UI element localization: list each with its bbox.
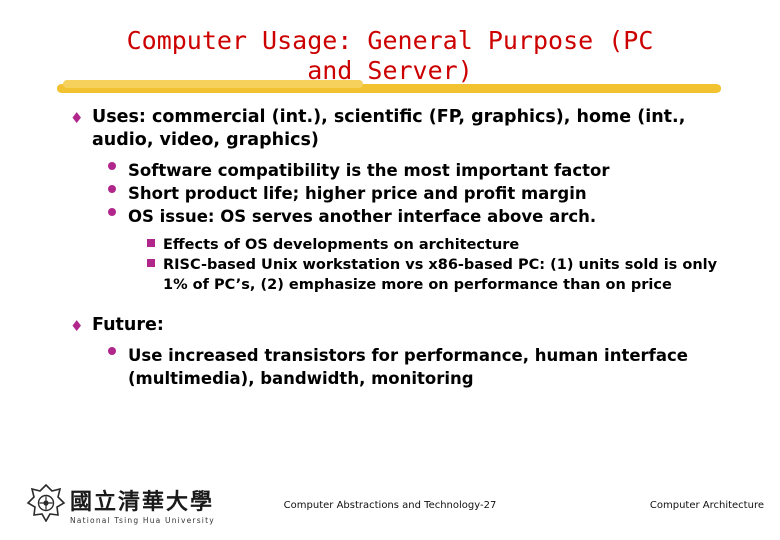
list-item-text: Use increased transistors for performanc…: [128, 346, 688, 388]
diamond-bullet-icon: ♦: [70, 315, 83, 337]
list-item: Use increased transistors for performanc…: [0, 344, 780, 390]
spacer: [0, 295, 780, 308]
list-item-text: Uses: commercial (int.), scientific (FP,…: [92, 107, 685, 150]
list-item: Effects of OS developments on architectu…: [0, 235, 780, 255]
diamond-bullet-icon: ♦: [70, 107, 83, 129]
disc-bullet-icon: [108, 208, 116, 216]
slide-body: ♦ Uses: commercial (int.), scientific (F…: [0, 100, 780, 390]
footer-right-text: Computer Architecture: [650, 500, 764, 511]
disc-bullet-icon: [108, 162, 116, 170]
slide: Computer Usage: General Purpose (PC and …: [0, 0, 780, 540]
list-item-text: RISC-based Unix workstation vs x86-based…: [163, 257, 717, 293]
list-item: Software compatibility is the most impor…: [0, 159, 780, 182]
list-item-text: OS issue: OS serves another interface ab…: [128, 207, 596, 226]
page-title: Computer Usage: General Purpose (PC and …: [0, 26, 780, 86]
list-item: RISC-based Unix workstation vs x86-based…: [0, 255, 780, 295]
square-bullet-icon: [147, 259, 155, 267]
square-bullet-icon: [147, 239, 155, 247]
list-item-text: Short product life; higher price and pro…: [128, 184, 587, 203]
list-item-text: Future:: [92, 315, 164, 335]
spacer: [0, 337, 780, 344]
list-item-text: Software compatibility is the most impor…: [128, 161, 609, 180]
list-item: ♦ Uses: commercial (int.), scientific (F…: [0, 106, 780, 152]
logo-english-name: National Tsing Hua University: [70, 516, 215, 525]
disc-bullet-icon: [108, 185, 116, 193]
spacer: [0, 228, 780, 235]
page-title-line-1: Computer Usage: General Purpose (PC: [0, 26, 780, 56]
list-item-text: Effects of OS developments on architectu…: [163, 237, 519, 253]
title-underline-decoration: [57, 84, 721, 93]
disc-bullet-icon: [108, 347, 116, 355]
list-item: OS issue: OS serves another interface ab…: [0, 205, 780, 228]
list-item: ♦ Future:: [0, 314, 780, 337]
spacer: [0, 152, 780, 159]
list-item: Short product life; higher price and pro…: [0, 182, 780, 205]
